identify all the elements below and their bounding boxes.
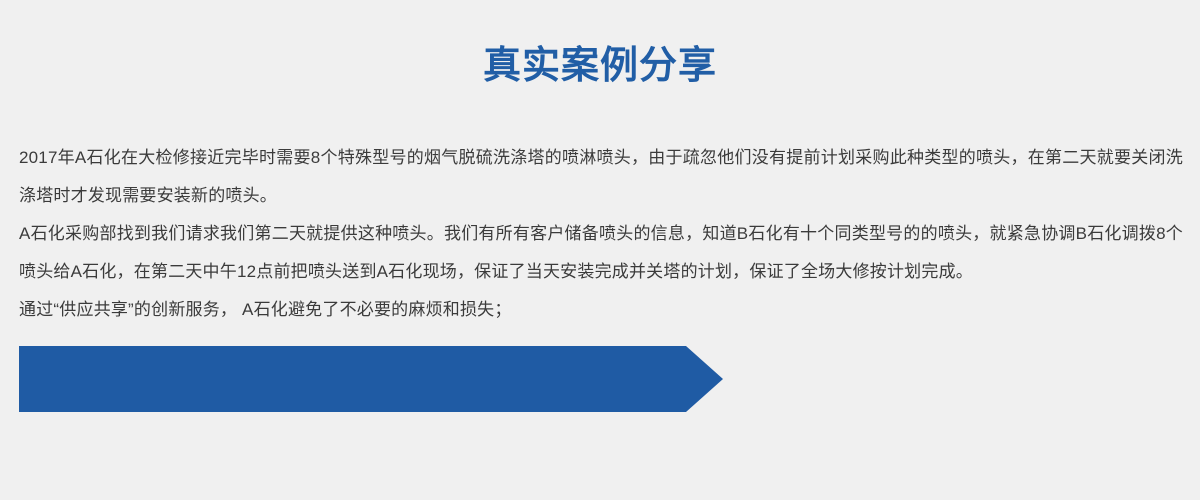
paragraph-3: 通过“供应共享”的创新服务， A石化避免了不必要的麻烦和损失；	[19, 291, 1183, 329]
slide-canvas: 真实案例分享 2017年A石化在大检修接近完毕时需要8个特殊型号的烟气脱硫洗涤塔…	[0, 0, 1200, 500]
paragraph-2: A石化采购部找到我们请求我们第二天就提供这种喷头。我们有所有客户储备喷头的信息，…	[19, 215, 1183, 291]
paragraph-1: 2017年A石化在大检修接近完毕时需要8个特殊型号的烟气脱硫洗涤塔的喷淋喷头，由…	[19, 139, 1183, 215]
arrow-banner-shape	[19, 346, 723, 412]
right-arrow-icon	[19, 346, 723, 412]
body-text-block: 2017年A石化在大检修接近完毕时需要8个特殊型号的烟气脱硫洗涤塔的喷淋喷头，由…	[19, 139, 1183, 329]
page-title: 真实案例分享	[0, 44, 1200, 88]
